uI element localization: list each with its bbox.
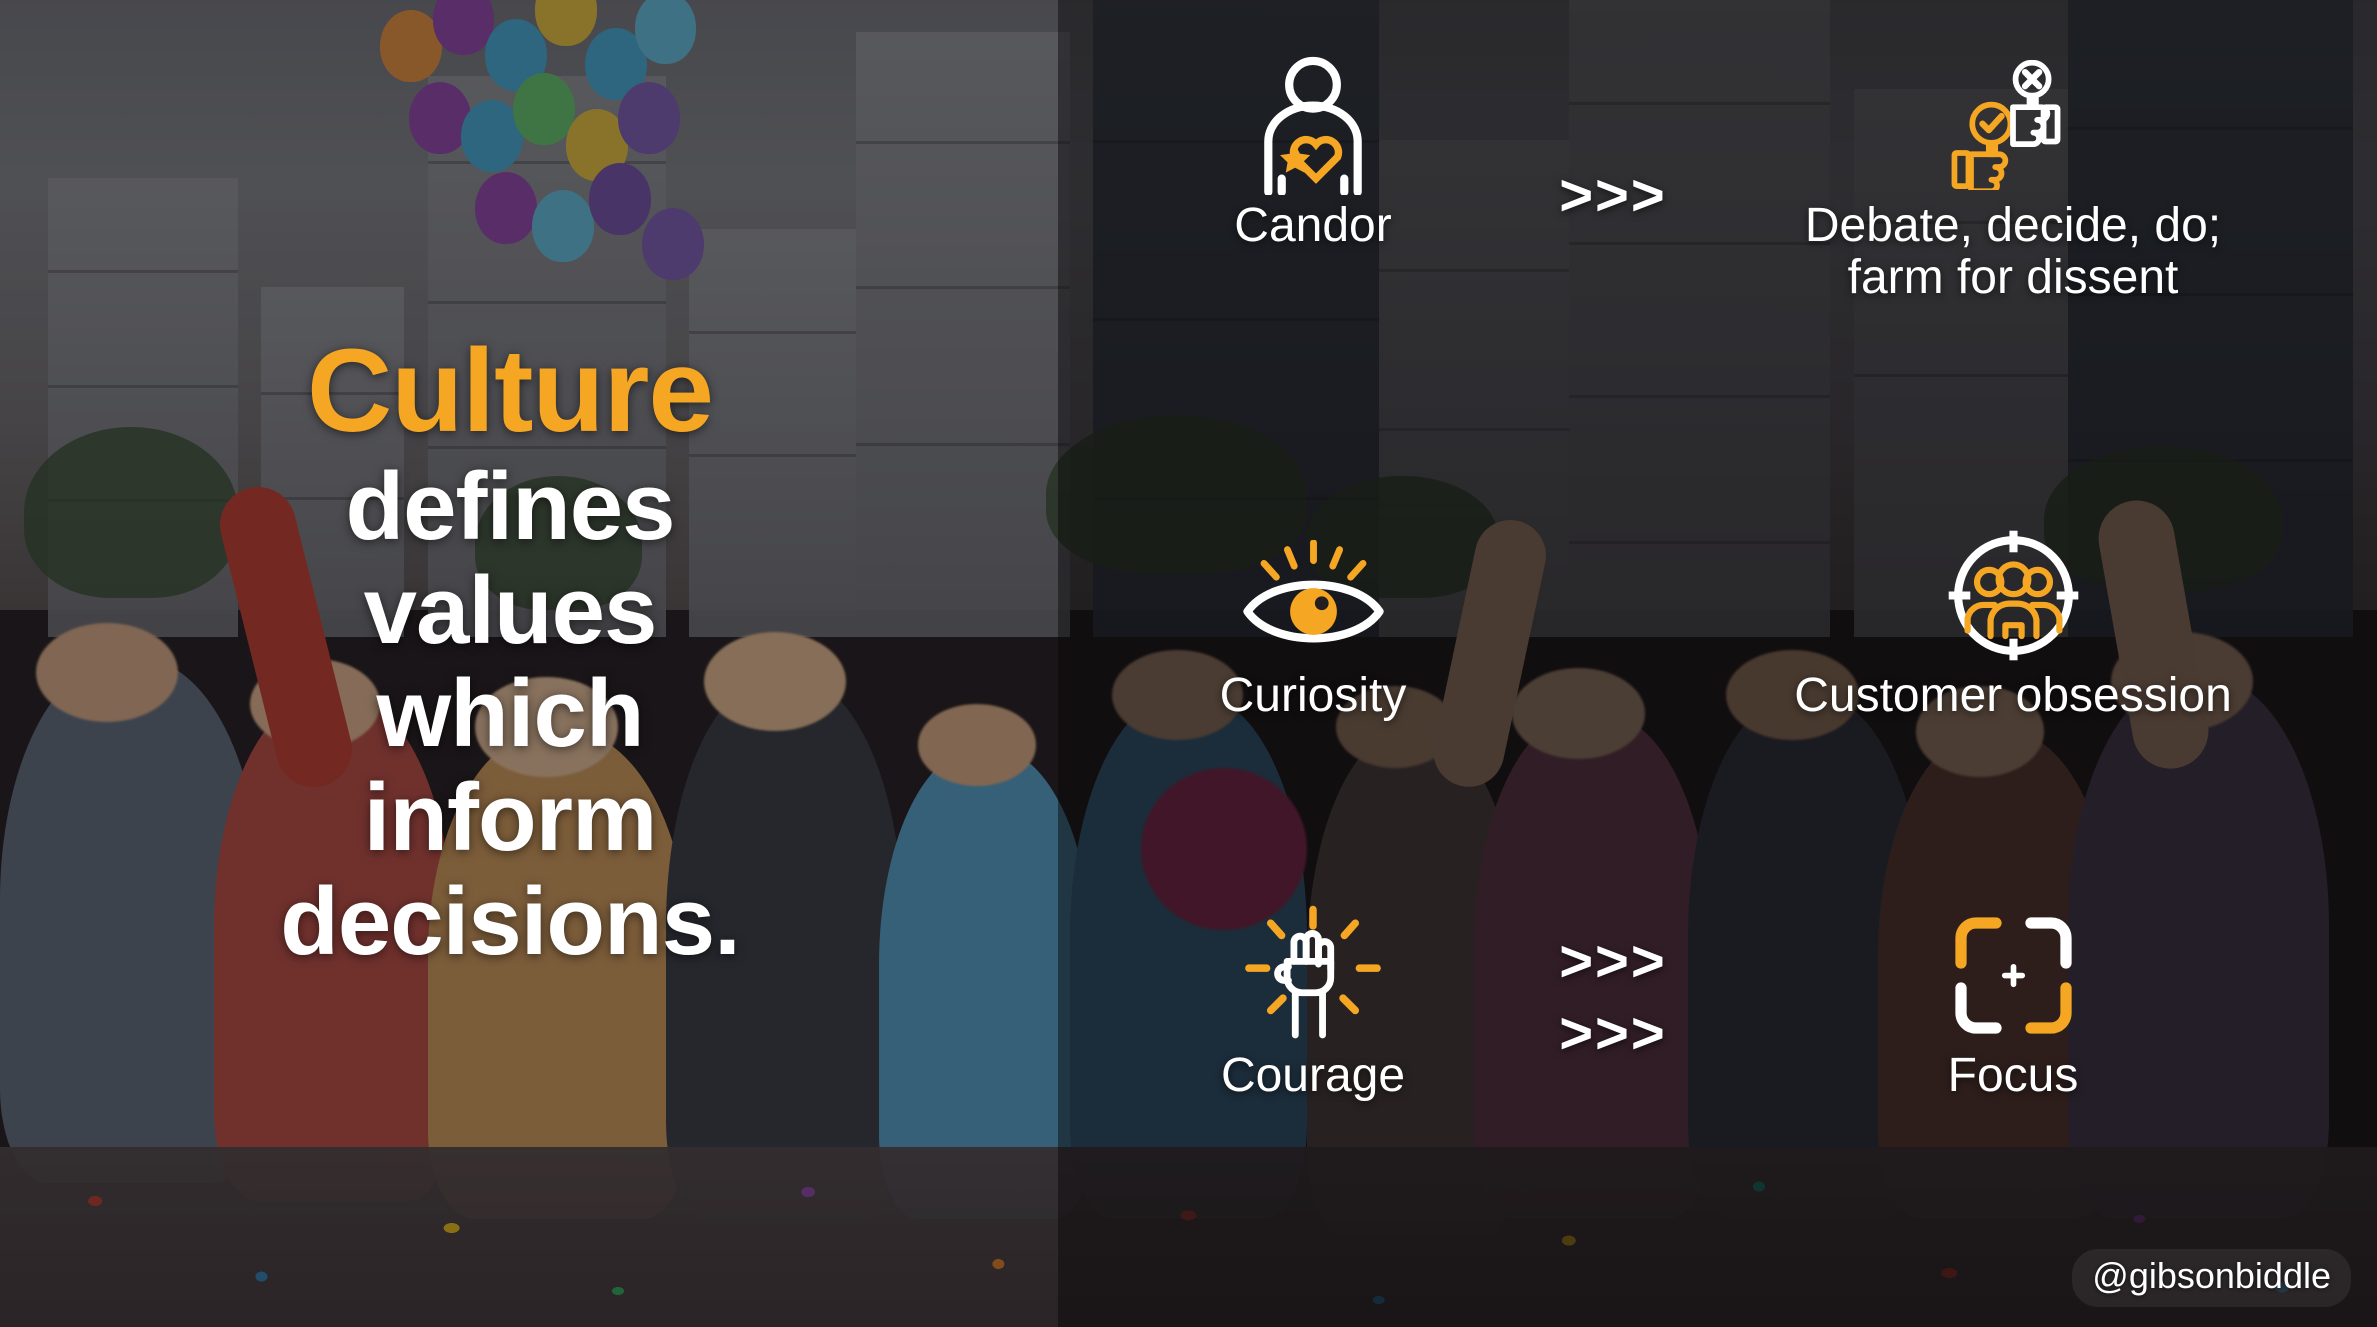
person-with-heart-star-badge-icon [1238,55,1388,195]
connector-arrow-3: >>> [1548,1000,1678,1067]
values-grid: Candor >>> [1058,0,2377,1327]
author-watermark: @gibsonbiddle [2072,1249,2351,1307]
customer-obsession-icon-wrap [1778,520,2248,670]
focus-icon-wrap [1778,900,2248,1050]
value-cell-curiosity: Curiosity [1078,520,1548,722]
headline-block: Culture defines values which inform deci… [0,330,1020,972]
crosshair-target-with-people-icon [1946,528,2081,663]
debate-icon-wrap [1778,50,2248,200]
value-label-curiosity: Curiosity [1078,670,1548,722]
value-row-courage: Courage >>> [1058,900,2377,1102]
two-hands-thumbs-check-and-x-icon [1943,60,2083,190]
behavior-cell-customer-obsession: Customer obsession [1778,520,2248,722]
candor-icon-wrap [1078,50,1548,200]
value-cell-candor: Candor [1078,50,1548,252]
headline-accent-word: Culture [0,330,1020,453]
courage-icon-wrap [1078,900,1548,1050]
raised-fist-with-rays-icon [1238,905,1388,1045]
eye-with-rays-icon [1231,540,1396,650]
behavior-label-customer-obsession: Customer obsession [1778,670,2248,722]
value-label-candor: Candor [1078,200,1548,252]
curiosity-icon-wrap [1078,520,1548,670]
headline-line-5: decisions. [0,872,1020,972]
behavior-cell-debate: Debate, decide, do; farm for dissent [1778,50,2248,304]
behavior-label-focus: Focus [1778,1050,2248,1102]
focus-frame-brackets-icon [1951,913,2076,1038]
connector-arrow-1: >>> [1548,162,1678,229]
headline-line-2: values [0,561,1020,661]
slide-canvas: Culture defines values which inform deci… [0,0,2377,1327]
headline-line-3: which [0,664,1020,764]
behavior-cell-focus: Focus [1778,900,2248,1102]
behavior-label-debate: Debate, decide, do; farm for dissent [1778,200,2248,304]
headline-line-1: defines [0,457,1020,557]
value-row-candor: Candor >>> [1058,50,2377,304]
value-cell-courage: Courage [1078,900,1548,1102]
headline-line-4: inform [0,768,1020,868]
value-label-courage: Courage [1078,1050,1548,1102]
